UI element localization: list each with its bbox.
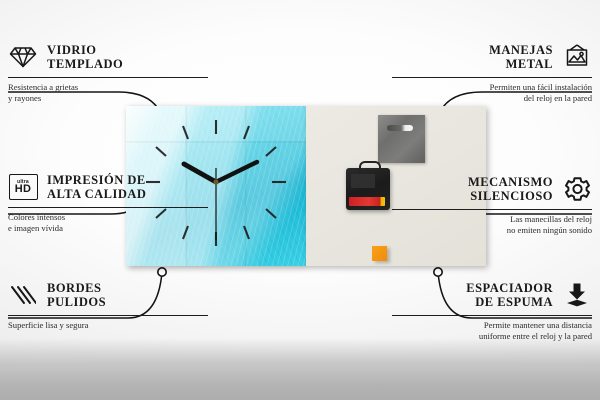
- feature-header: MANEJAS METAL: [392, 40, 592, 74]
- feature-high-quality-print: ultra HD IMPRESIÓN DE ALTA CALIDAD Color…: [8, 170, 208, 235]
- gear-icon: [562, 174, 592, 204]
- clock-minute-hand: [216, 162, 257, 182]
- foam-spacer-pad: [372, 246, 387, 261]
- feature-silent-mechanism: MECANISMO SILENCIOSO Las manecillas del …: [392, 172, 592, 237]
- mechanism-hook: [359, 161, 381, 173]
- feature-divider: [8, 207, 208, 208]
- feature-title: BORDES PULIDOS: [47, 281, 106, 309]
- diamond-icon: [8, 42, 38, 72]
- battery: [349, 197, 385, 206]
- feature-desc-line2: y rayones: [8, 93, 208, 104]
- feature-header: ultra HD IMPRESIÓN DE ALTA CALIDAD: [8, 170, 208, 204]
- feature-desc-line1: Resistencia a grietas: [8, 82, 208, 93]
- feature-desc-line1: Permiten una fácil instalación: [392, 82, 592, 93]
- hanger-keyhole-slot: [387, 125, 413, 131]
- feature-header: VIDRIO TEMPLADO: [8, 40, 208, 74]
- feature-polished-edges: BORDES PULIDOS Superficie lisa y segura: [8, 278, 208, 331]
- clock-center-cap: [213, 179, 218, 184]
- feature-header: BORDES PULIDOS: [8, 278, 208, 312]
- feature-desc-line2: uniforme entre el reloj y la pared: [392, 331, 592, 342]
- feature-tempered-glass: VIDRIO TEMPLADO Resistencia a grietas y …: [8, 40, 208, 105]
- quartz-mechanism-box: [346, 168, 390, 210]
- feature-desc-line1: Colores intensos: [8, 212, 208, 223]
- feature-divider: [8, 315, 208, 316]
- feature-divider: [8, 77, 208, 78]
- connector-endpoint-foam-spacer: [434, 268, 442, 276]
- feature-metal-handles: MANEJAS METAL Permiten una fácil instala…: [392, 40, 592, 105]
- feature-title: MANEJAS METAL: [489, 43, 553, 71]
- feature-desc-line1: Superficie lisa y segura: [8, 320, 208, 331]
- feature-title: ESPACIADOR DE ESPUMA: [466, 281, 553, 309]
- feature-desc-line1: Permite mantener una distancia: [392, 320, 592, 331]
- ultra-hd-icon: ultra HD: [8, 172, 38, 202]
- metal-hanger-plate: [378, 115, 425, 163]
- feature-desc-line2: e imagen vívida: [8, 223, 208, 234]
- feature-header: ESPACIADOR DE ESPUMA: [392, 278, 592, 312]
- feature-divider: [392, 209, 592, 210]
- mechanism-faceplate: [351, 174, 375, 188]
- feature-foam-spacer: ESPACIADOR DE ESPUMA Permite mantener un…: [392, 278, 592, 343]
- ultra-hd-icon-main-label: HD: [15, 184, 32, 195]
- feature-divider: [392, 315, 592, 316]
- feature-desc-line1: Las manecillas del reloj: [392, 214, 592, 225]
- feature-title: VIDRIO TEMPLADO: [47, 43, 123, 71]
- feature-title: IMPRESIÓN DE ALTA CALIDAD: [47, 173, 146, 201]
- feature-desc-line2: no emiten ningún sonido: [392, 225, 592, 236]
- feature-divider: [392, 77, 592, 78]
- diagonal-stripes-icon: [8, 280, 38, 310]
- infographic-canvas: VIDRIO TEMPLADO Resistencia a grietas y …: [0, 0, 600, 400]
- feature-desc-line2: del reloj en la pared: [392, 93, 592, 104]
- press-down-arrow-icon: [562, 280, 592, 310]
- framed-picture-icon: [562, 42, 592, 72]
- feature-header: MECANISMO SILENCIOSO: [392, 172, 592, 206]
- feature-title: MECANISMO SILENCIOSO: [468, 175, 553, 203]
- connector-endpoint-polished-edges: [158, 268, 166, 276]
